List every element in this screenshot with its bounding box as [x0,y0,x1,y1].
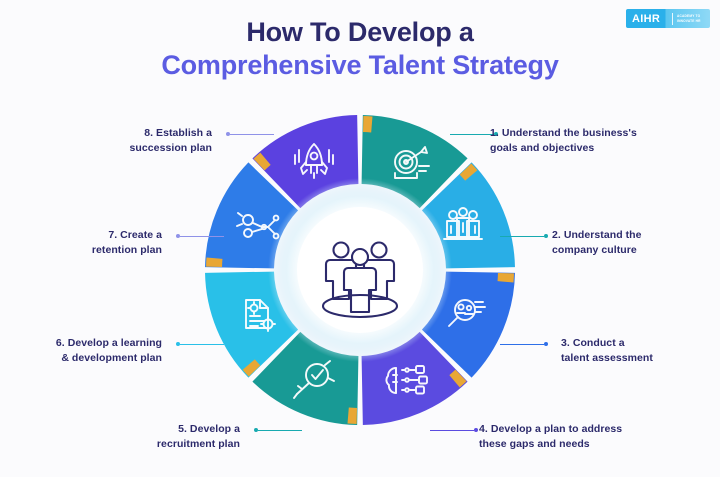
page-title: How To Develop a Comprehensive Talent St… [0,16,720,82]
connector-dot [254,428,258,432]
connector-dot [544,342,548,346]
logo-wordmark: AIHR [626,13,672,25]
step-5-line-1: 5. Develop a [178,423,240,435]
accent-tick-7 [206,258,222,267]
connector-dot [176,234,180,238]
step-label-6: 6. Develop a learning & development plan [10,336,162,365]
step-6-line-2: & development plan [61,352,162,364]
logo-divider [672,13,673,25]
connector-step-5 [250,427,302,434]
step-2-line-1: 2. Understand the [552,229,642,241]
connector-step-4 [430,427,482,434]
connector-dot [226,132,230,136]
connector-line [450,134,494,135]
connector-step-7 [172,233,224,240]
talent-strategy-wheel [199,109,521,431]
connector-line [180,344,224,345]
connector-step-8 [222,131,274,138]
connector-step-3 [500,341,552,348]
connector-line [500,236,544,237]
step-5-line-2: recruitment plan [157,438,240,450]
step-1-line-2: goals and objectives [490,142,594,154]
logo-tagline: ACADEMY TO INNOVATE HR [673,14,701,22]
connector-dot [544,234,548,238]
aihr-logo: AIHR ACADEMY TO INNOVATE HR [626,9,710,28]
step-8-line-2: succession plan [130,142,212,154]
step-label-1: 1. Understand the business's goals and o… [490,126,675,155]
connector-line [258,430,302,431]
step-label-2: 2. Understand the company culture [552,228,712,257]
connector-step-6 [172,341,224,348]
step-label-4: 4. Develop a plan to address these gaps … [479,422,679,451]
title-line-2: Comprehensive Talent Strategy [0,48,720,82]
connector-line [180,236,224,237]
step-3-line-1: 3. Conduct a [561,337,625,349]
connector-dot [474,428,478,432]
step-4-line-1: 4. Develop a plan to address [479,423,622,435]
connector-line [230,134,274,135]
step-label-3: 3. Conduct a talent assessment [561,336,711,365]
step-6-line-1: 6. Develop a learning [56,337,162,349]
connector-line [500,344,544,345]
step-4-line-2: these gaps and needs [479,438,590,450]
accent-tick-3 [498,273,514,282]
step-7-line-2: retention plan [92,244,162,256]
connector-line [430,430,474,431]
title-line-1: How To Develop a [0,16,720,48]
step-label-7: 7. Create a retention plan [40,228,162,257]
step-3-line-2: talent assessment [561,352,653,364]
accent-tick-1 [363,116,372,132]
step-7-line-1: 7. Create a [108,229,162,241]
step-label-5: 5. Develop a recruitment plan [80,422,240,451]
step-label-8: 8. Establish a succession plan [90,126,212,155]
step-8-line-1: 8. Establish a [144,127,212,139]
connector-dot [176,342,180,346]
logo-tagline-line2: INNOVATE HR [677,19,701,23]
step-2-line-2: company culture [552,244,637,256]
connector-step-2 [500,233,552,240]
step-1-line-1: 1. Understand the business's [490,127,637,139]
accent-tick-5 [348,408,357,424]
